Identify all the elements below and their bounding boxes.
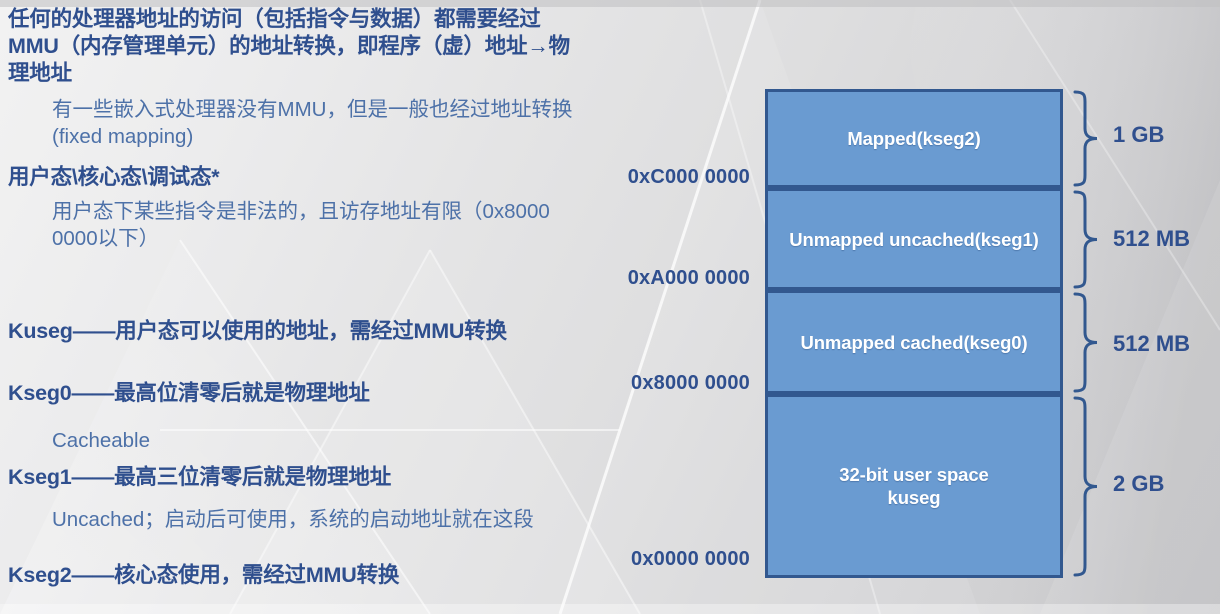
segment-size-label: 512 MB (1113, 226, 1190, 252)
bullet-mmu-translation: 任何的处理器地址的访问（包括指令与数据）都需要经过MMU（内存管理单元）的地址转… (8, 6, 588, 87)
segment-size-label: 2 GB (1113, 471, 1164, 497)
address-tick-label: 0xA000 0000 (628, 267, 750, 290)
memory-map-diagram: Mapped(kseg2)Unmapped uncached(kseg1)Unm… (595, 0, 1220, 614)
size-brace (1071, 396, 1101, 577)
segment-size-label: 1 GB (1113, 122, 1164, 148)
bullet-kseg0-cacheable: Cacheable (52, 427, 592, 454)
bullet-kuseg: Kuseg——用户态可以使用的地址，需经过MMU转换 (8, 318, 588, 345)
memory-segment-label: Unmapped uncached(kseg1) (789, 228, 1038, 251)
bullet-embedded-no-mmu: 有一些嵌入式处理器没有MMU，但是一般也经过地址转换(fixed mapping… (52, 96, 592, 150)
address-tick-label: 0x0000 0000 (631, 548, 750, 571)
address-tick-label: 0x8000 0000 (631, 372, 750, 395)
bullet-modes: 用户态\核心态\调试态* (8, 164, 588, 191)
bullet-kseg1: Kseg1——最高三位清零后就是物理地址 (8, 464, 588, 491)
memory-segment-kseg1: Unmapped uncached(kseg1) (765, 188, 1063, 290)
memory-segment-kseg2: Mapped(kseg2) (765, 89, 1063, 188)
size-brace (1071, 190, 1101, 289)
bullet-user-mode-limits: 用户态下某些指令是非法的，且访存地址有限（0x8000 0000以下） (52, 198, 592, 252)
memory-segment-label: 32-bit user space kuseg (839, 463, 988, 509)
segment-size-label: 512 MB (1113, 331, 1190, 357)
size-brace (1071, 292, 1101, 393)
memory-segment-kuseg: 32-bit user space kuseg (765, 394, 1063, 578)
memory-segment-label: Unmapped cached(kseg0) (800, 331, 1027, 354)
bullet-kseg1-uncached: Uncached；启动后可使用，系统的启动地址就在这段 (52, 506, 592, 533)
slide-canvas: 任何的处理器地址的访问（包括指令与数据）都需要经过MMU（内存管理单元）的地址转… (0, 0, 1220, 614)
bullet-list: 任何的处理器地址的访问（包括指令与数据）都需要经过MMU（内存管理单元）的地址转… (0, 0, 600, 614)
memory-segment-label: Mapped(kseg2) (847, 127, 980, 150)
memory-segment-kseg0: Unmapped cached(kseg0) (765, 290, 1063, 394)
address-tick-label: 0xC000 0000 (628, 166, 750, 189)
bullet-kseg2: Kseg2——核心态使用，需经过MMU转换 (8, 562, 588, 589)
bullet-kseg0: Kseg0——最高位清零后就是物理地址 (8, 380, 588, 407)
size-brace (1071, 90, 1101, 187)
